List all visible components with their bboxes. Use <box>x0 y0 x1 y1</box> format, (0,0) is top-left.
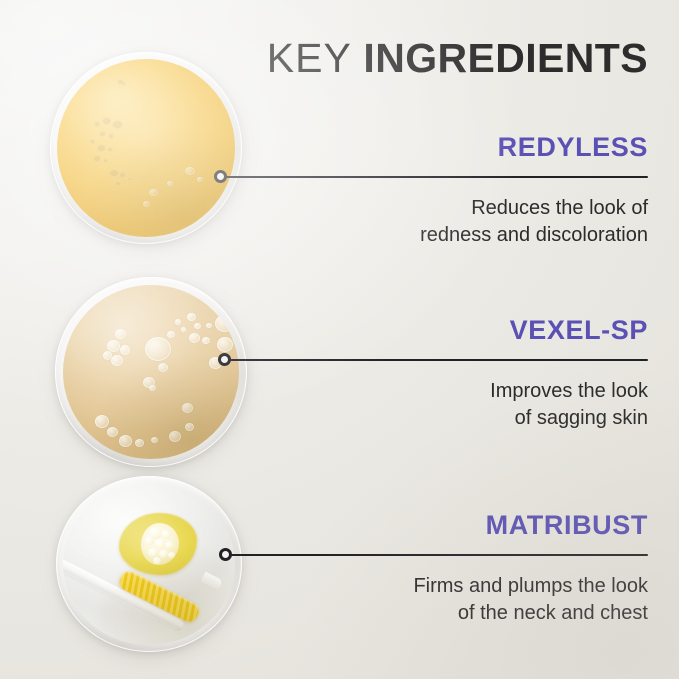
yellow-oil-blob <box>119 513 197 575</box>
petri-dish-vexel-sp <box>55 277 247 467</box>
leader-dot <box>218 353 231 366</box>
ingredient-description-line-1: Improves the look <box>228 369 648 405</box>
ingredient-block-vexel-sp: VEXEL-SP <box>228 316 648 344</box>
leader-line-vexel-sp <box>218 353 648 367</box>
page-title-bold: INGREDIENTS <box>363 35 648 81</box>
leader-line-redyless <box>214 170 648 184</box>
ingredient-description-line-1: Reduces the look of <box>228 186 648 222</box>
applicator-brush-tip <box>201 572 224 591</box>
ingredient-name: VEXEL-SP <box>228 316 648 344</box>
leader-rule <box>221 176 648 178</box>
page-title: KEY INGREDIENTS <box>250 38 648 79</box>
key-ingredients-graphic: REDYLESS Reduces the look of redness and… <box>0 0 679 679</box>
petri-dish-matribust <box>56 476 242 652</box>
ingredient-desc-matribust: Firms and plumps the look of the neck an… <box>228 564 648 626</box>
dish-liquid-fill <box>57 59 235 237</box>
ingredient-name: REDYLESS <box>228 133 648 161</box>
petri-dish-redyless <box>50 52 242 244</box>
ingredient-block-matribust: MATRIBUST <box>228 511 648 539</box>
leader-rule <box>225 359 648 361</box>
ingredient-desc-redyless: Reduces the look of redness and discolor… <box>228 186 648 248</box>
leader-dot <box>219 548 232 561</box>
leader-rule <box>226 554 648 556</box>
oil-pearl-cluster <box>141 523 179 565</box>
ingredient-desc-vexel-sp: Improves the look of sagging skin <box>228 369 648 431</box>
applicator-brush-head <box>116 568 202 625</box>
ingredient-description-line-2: redness and discoloration <box>228 222 648 249</box>
dish-liquid-fill <box>63 483 235 645</box>
leader-dot <box>214 170 227 183</box>
dish-liquid-fill <box>63 285 239 459</box>
page-title-light: KEY <box>267 35 352 81</box>
ingredient-description-line-2: of sagging skin <box>228 405 648 432</box>
ingredient-block-redyless: REDYLESS <box>228 133 648 161</box>
ingredient-name: MATRIBUST <box>228 511 648 539</box>
ingredient-description-line-1: Firms and plumps the look <box>228 564 648 600</box>
ingredient-description-line-2: of the neck and chest <box>228 600 648 627</box>
leader-line-matribust <box>219 548 648 562</box>
